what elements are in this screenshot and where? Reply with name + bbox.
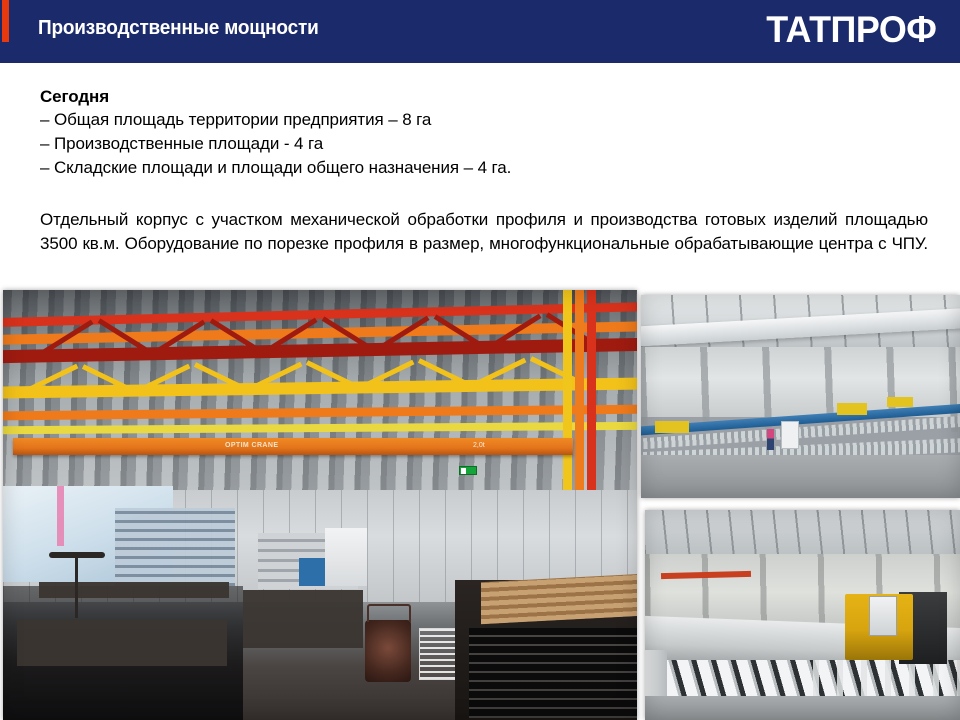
- work-bench: [39, 582, 229, 598]
- wire-trolley: [419, 628, 457, 680]
- company-logo: ТАТПРОФ: [766, 8, 936, 52]
- stacked-profile-stock: [115, 508, 235, 586]
- bullet-item-1: – Производственные площади - 4 га: [40, 132, 930, 156]
- photo-roller-conveyor: [645, 510, 960, 720]
- blue-container: [299, 558, 325, 586]
- photo-main-factory-hall: OPTIM CRANE 2,0t: [3, 290, 637, 720]
- column-red: [587, 290, 596, 496]
- white-bulk-bags: [325, 528, 367, 586]
- page-title: Производственные мощности: [38, 17, 319, 40]
- crane-brand-label: OPTIM CRANE: [225, 442, 278, 449]
- yellow-unit-far: [887, 397, 913, 407]
- content-text-block: Сегодня – Общая площадь территории предп…: [40, 85, 930, 280]
- extrusion-line-scene: [641, 295, 960, 498]
- control-cabinet: [781, 421, 799, 449]
- bench-cabinet: [17, 620, 227, 666]
- exit-sign-icon: [459, 466, 477, 475]
- pink-marker: [57, 486, 64, 546]
- pallet-jack-handle: [75, 558, 78, 618]
- factory-hall-scene: OPTIM CRANE 2,0t: [3, 290, 637, 720]
- line-floor: [641, 455, 960, 498]
- slide-header: Производственные мощности ТАТПРОФ: [0, 0, 960, 63]
- hose-reel-cart: [365, 620, 411, 682]
- timber-packs: [481, 574, 637, 624]
- overhead-crane-girder: [13, 438, 573, 455]
- machine-block: [243, 590, 363, 648]
- stacked-profile-slats: [469, 628, 637, 718]
- shop-floor: [645, 696, 960, 720]
- machine-control-panel: [869, 596, 897, 636]
- header-accent-bar: [2, 0, 9, 42]
- yellow-unit-left: [655, 421, 689, 433]
- crane-capacity-label: 2,0t: [473, 442, 485, 449]
- yellow-unit-right: [837, 403, 867, 415]
- column-yellow: [563, 290, 572, 496]
- lead-title: Сегодня: [40, 85, 930, 108]
- photo-extrusion-line: [641, 295, 960, 498]
- content-paragraph: Отдельный корпус с участком механической…: [40, 208, 928, 280]
- roller-conveyor-scene: [645, 510, 960, 720]
- bullet-item-0: – Общая площадь территории предприятия –…: [40, 108, 930, 132]
- bullet-item-2: – Складские площади и площади общего наз…: [40, 156, 930, 180]
- column-orange: [575, 290, 584, 496]
- worker-figure: [767, 429, 774, 450]
